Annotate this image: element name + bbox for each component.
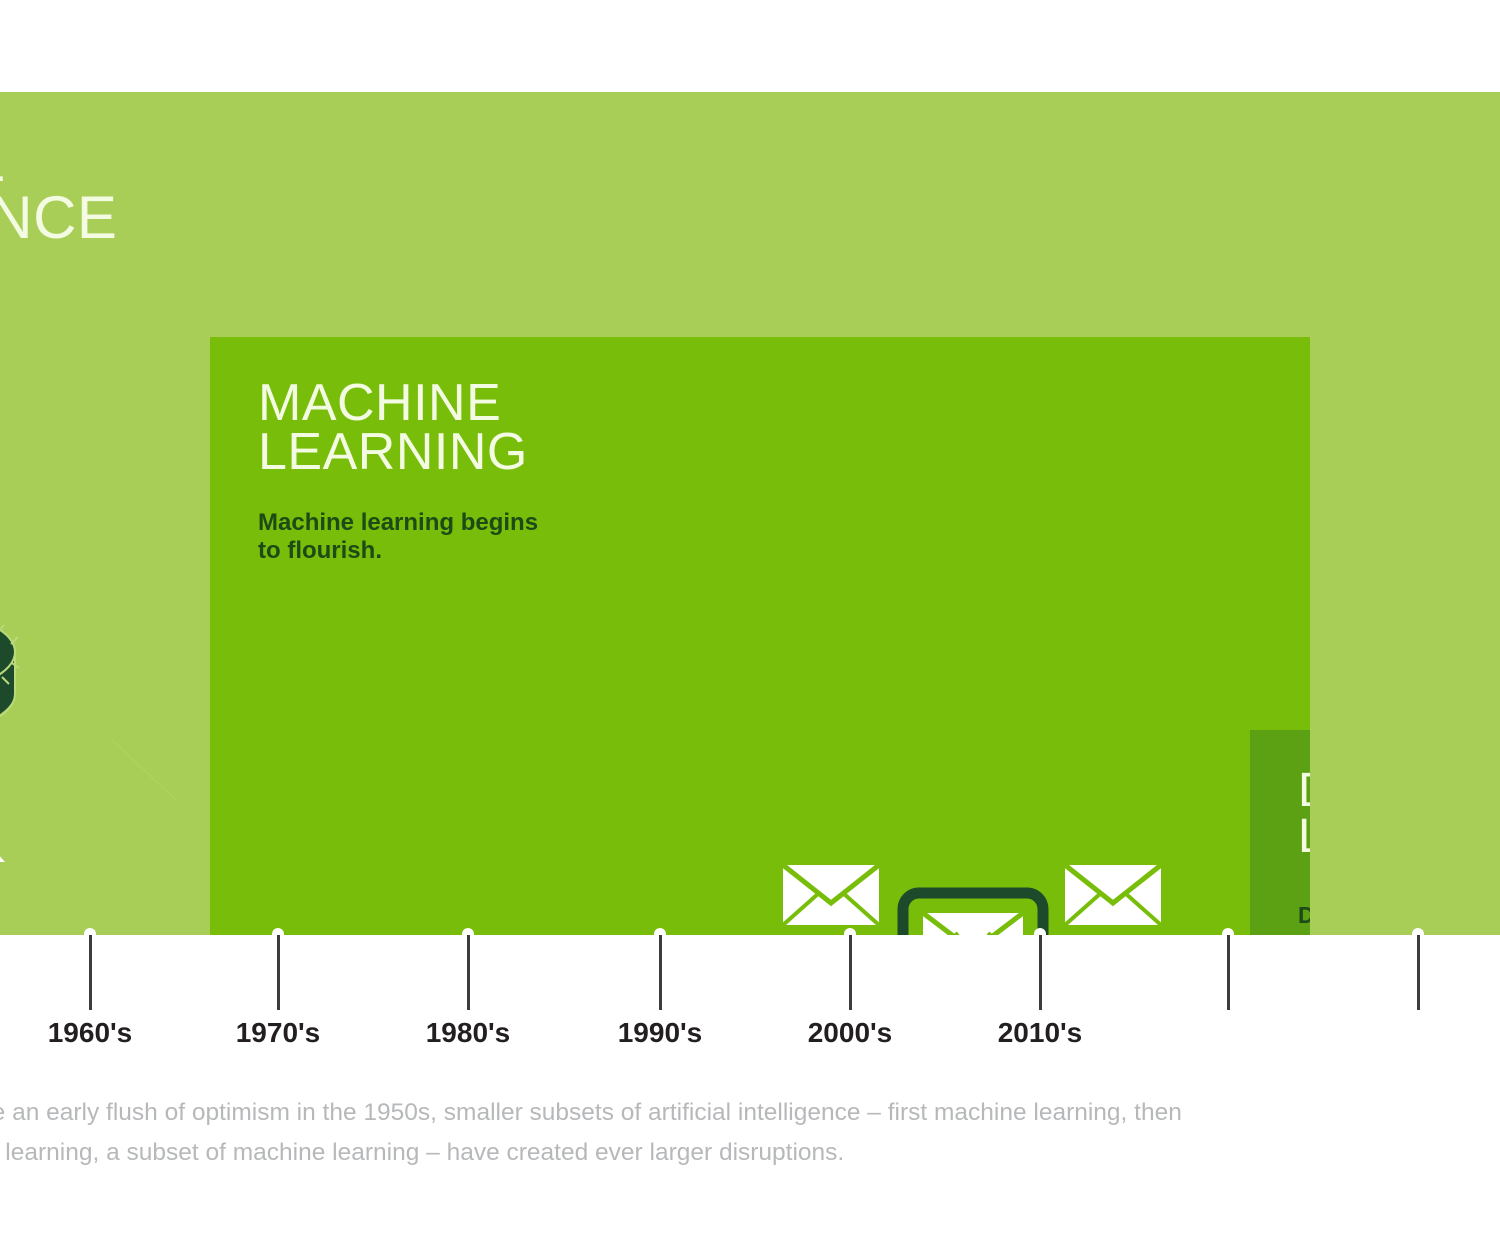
timeline-tick-1980s[interactable]: 1980's xyxy=(459,905,477,1055)
timeline-label: 1970's xyxy=(209,1017,347,1049)
tick-stem xyxy=(1039,935,1042,1010)
tick-stem xyxy=(659,935,662,1010)
timeline-tick-1960s[interactable]: 1960's xyxy=(81,905,99,1055)
timeline-axis: 1960's 1970's 1980's 1990's 2000's 2010'… xyxy=(0,905,1500,1055)
panel-machine-learning: MACHINE LEARNING Machine learning begins… xyxy=(210,337,1310,935)
timeline-label: 1980's xyxy=(399,1017,537,1049)
tick-stem xyxy=(467,935,470,1010)
timeline-label: 2010's xyxy=(971,1017,1109,1049)
timeline-label: 1960's xyxy=(21,1017,159,1049)
tick-stem xyxy=(277,935,280,1010)
tick-stem xyxy=(1417,935,1420,1010)
panel-title-artificial-intelligence: ARTIFICIAL INTELLIGENCE xyxy=(0,132,117,246)
timeline-tick-2010s[interactable]: 2010's xyxy=(1031,905,1049,1055)
timeline-tick-1970s[interactable]: 1970's xyxy=(269,905,287,1055)
timeline-tick-8[interactable] xyxy=(1409,905,1427,1055)
tick-stem xyxy=(89,935,92,1010)
panel-title-machine-learning: MACHINE LEARNING xyxy=(258,379,528,478)
panel-title-deep-learning: DEEP LEARNING xyxy=(1298,768,1310,859)
timeline-tick-1990s[interactable]: 1990's xyxy=(651,905,669,1055)
checkers-board-icon xyxy=(0,532,180,862)
infographic-canvas: ARTIFICIAL INTELLIGENCE Early artificial… xyxy=(0,0,1500,1250)
panel-artificial-intelligence: ARTIFICIAL INTELLIGENCE Early artificial… xyxy=(0,92,1500,935)
timeline-tick-2000s[interactable]: 2000's xyxy=(841,905,859,1055)
panel-subtitle-machine-learning: Machine learning begins to flourish. xyxy=(258,509,538,565)
tick-stem xyxy=(1227,935,1230,1010)
tick-stem xyxy=(849,935,852,1010)
timeline-label: 2000's xyxy=(781,1017,919,1049)
timeline-tick-7[interactable] xyxy=(1219,905,1237,1055)
infographic-caption: Since an early flush of optimism in the … xyxy=(0,1093,1500,1172)
timeline-label: 1990's xyxy=(591,1017,729,1049)
